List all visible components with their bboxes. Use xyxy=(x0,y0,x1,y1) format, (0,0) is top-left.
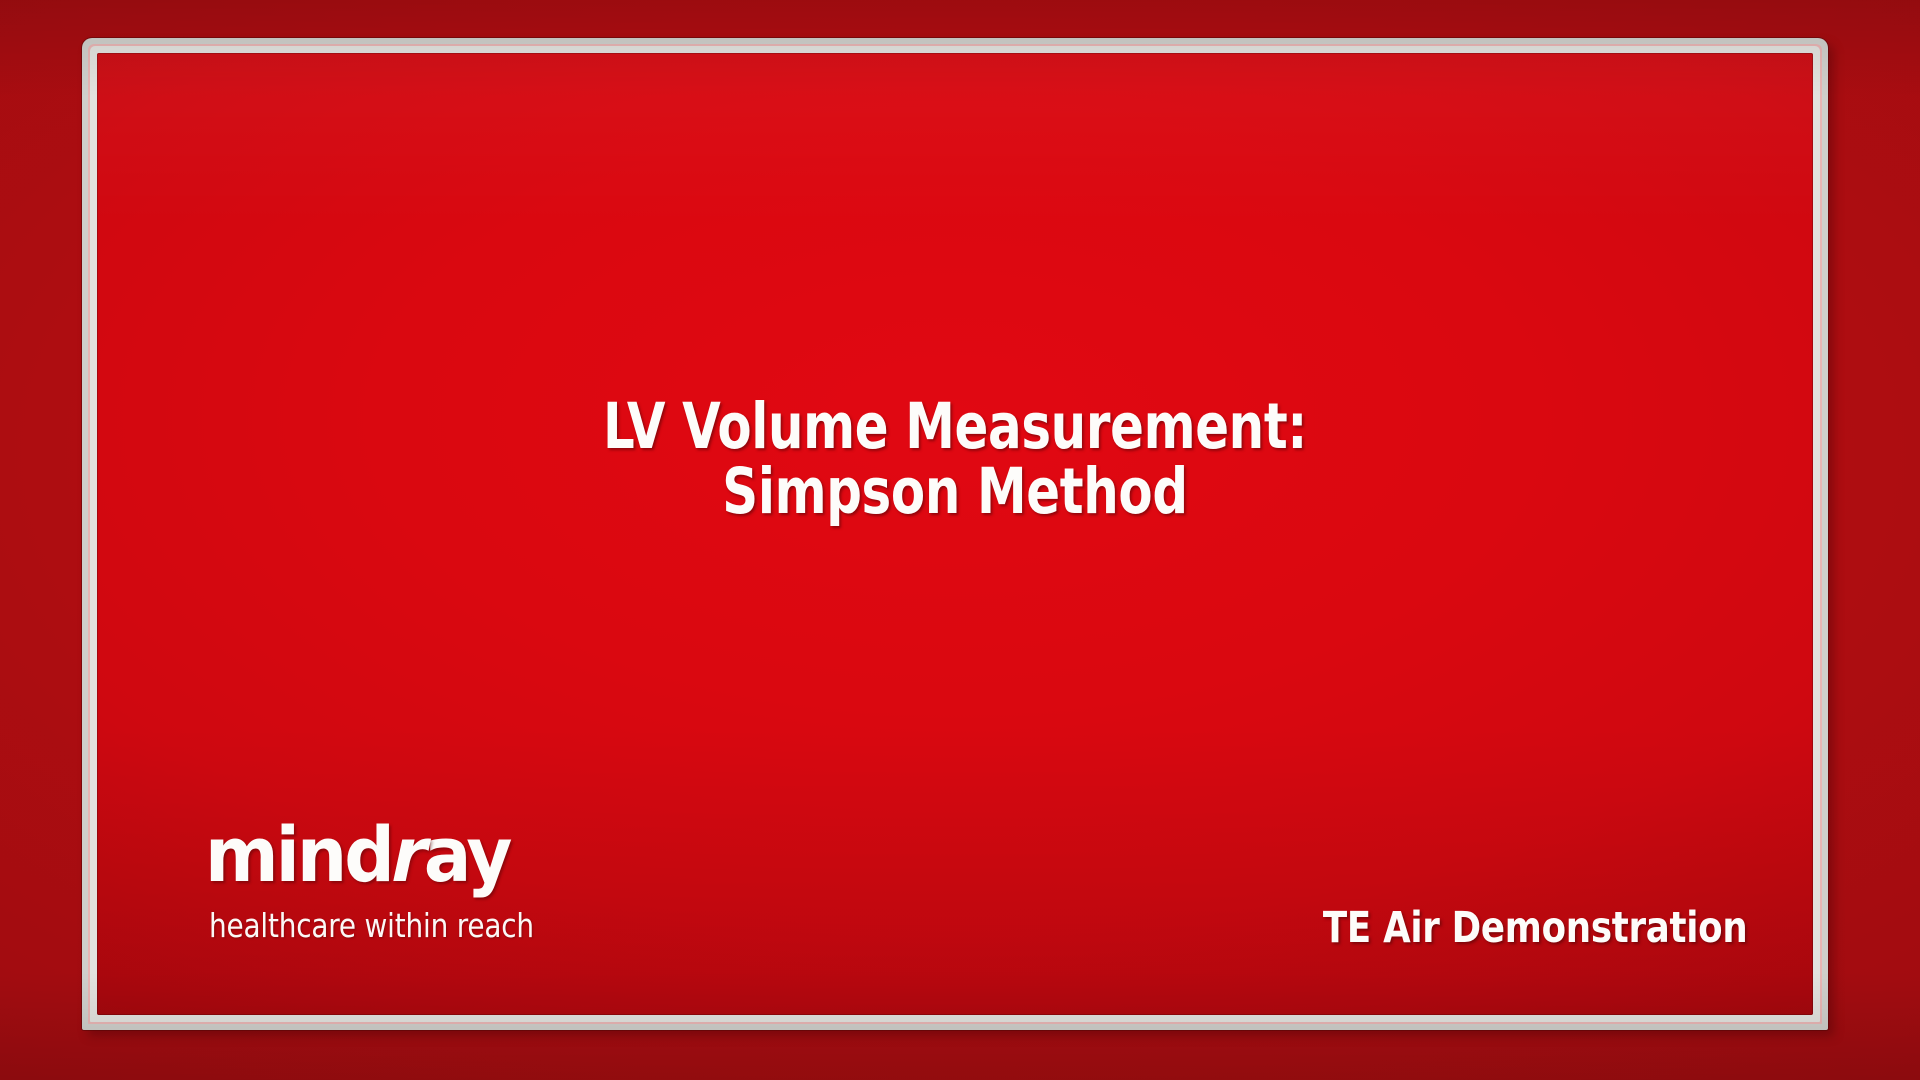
title-slide: LV Volume Measurement: Simpson Method mi… xyxy=(0,0,1920,1080)
decorative-frame-hairline: LV Volume Measurement: Simpson Method mi… xyxy=(88,44,1822,1024)
decorative-frame-inner-band: LV Volume Measurement: Simpson Method mi… xyxy=(90,46,1820,1022)
page-title-line-2: Simpson Method xyxy=(200,460,1710,525)
page-title-line-1: LV Volume Measurement: xyxy=(200,395,1710,460)
mindray-wordmark-part1: mind xyxy=(205,810,392,899)
mindray-tagline: healthcare within reach xyxy=(209,906,534,945)
mindray-wordmark-part2: ay xyxy=(424,810,510,899)
slide-stage: LV Volume Measurement: Simpson Method mi… xyxy=(97,53,1813,1015)
decorative-frame-outer-band: LV Volume Measurement: Simpson Method mi… xyxy=(82,38,1828,1030)
mindray-wordmark: mindray xyxy=(205,819,530,892)
page-title: LV Volume Measurement: Simpson Method xyxy=(97,395,1813,525)
slide-caption: TE Air Demonstration xyxy=(1322,903,1747,953)
mindray-logo: mindray healthcare within reach xyxy=(205,819,555,945)
